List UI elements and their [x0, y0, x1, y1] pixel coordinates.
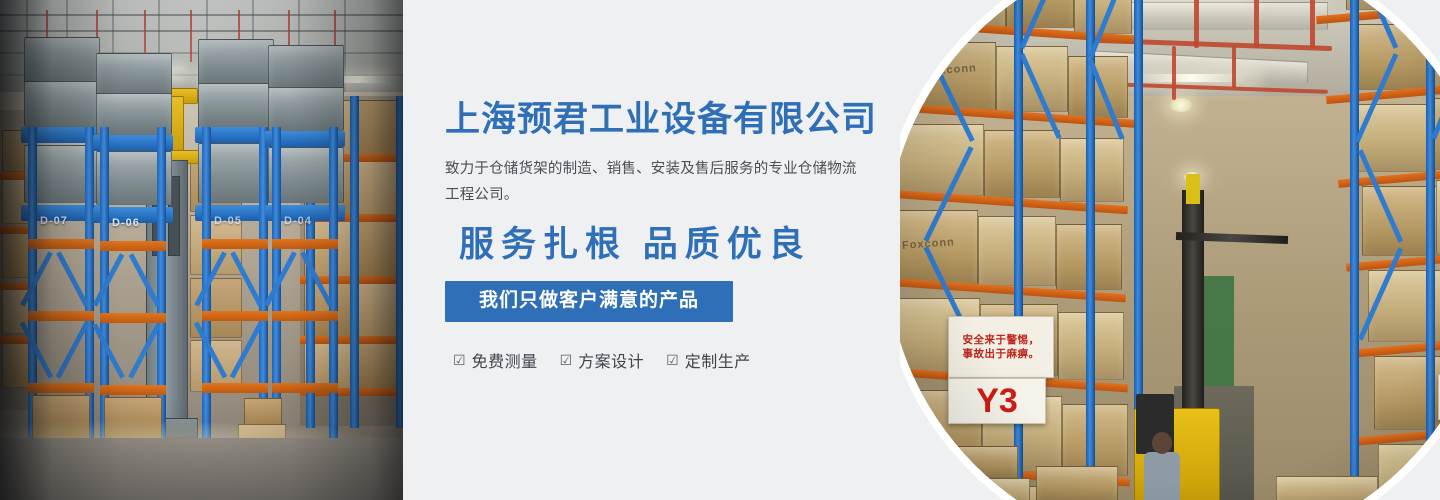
feature-item-custom-production: ☑ 定制生产: [666, 348, 751, 372]
cta-button[interactable]: 我们只做客户满意的产品: [445, 281, 733, 323]
feature-item-solution-design: ☑ 方案设计: [560, 348, 645, 372]
rack-label: D-05: [214, 215, 242, 227]
checkbox-checked-icon: ☑: [453, 353, 466, 367]
aisle-marker-label: Y3: [976, 384, 1018, 418]
aisle-marker-sign: Y3: [948, 378, 1046, 424]
safety-sign: 安全来于警惕， 事故出于麻痹。: [948, 316, 1054, 378]
checkbox-checked-icon: ☑: [560, 353, 573, 367]
right-warehouse-photo: Foxconn Foxconn Foxconn: [900, 0, 1440, 500]
company-slogan: 服务扎根 品质优良: [459, 226, 915, 265]
company-title: 上海预君工业设备有限公司: [445, 100, 915, 140]
left-photo-scene: D-07 D-06: [0, 0, 403, 500]
right-photo-scene: Foxconn Foxconn Foxconn: [900, 0, 1440, 500]
rack-label: D-06: [112, 217, 140, 229]
feature-label: 定制生产: [685, 348, 751, 372]
safety-sign-line2: 事故出于麻痹。: [963, 347, 1040, 361]
feature-label: 免费测量: [472, 348, 538, 372]
banner-text-panel: 上海预君工业设备有限公司 致力于仓储货架的制造、销售、安装及售后服务的专业仓储物…: [403, 0, 983, 500]
left-warehouse-photo: D-07 D-06: [0, 0, 403, 500]
right-warehouse-photo-wrap: Foxconn Foxconn Foxconn: [900, 0, 1440, 500]
promo-banner: D-07 D-06: [0, 0, 1440, 500]
rack-label: D-04: [284, 215, 312, 227]
feature-item-free-measure: ☑ 免费测量: [453, 348, 538, 372]
feature-label: 方案设计: [578, 348, 644, 372]
checkbox-checked-icon: ☑: [666, 353, 679, 367]
company-subtitle: 致力于仓储货架的制造、销售、安装及售后服务的专业仓储物流工程公司。: [445, 157, 860, 208]
forklift-operator: [1144, 452, 1180, 500]
rack-label: D-07: [40, 215, 68, 227]
safety-sign-line1: 安全来于警惕，: [963, 333, 1040, 347]
feature-list: ☑ 免费测量 ☑ 方案设计 ☑ 定制生产: [453, 348, 915, 372]
